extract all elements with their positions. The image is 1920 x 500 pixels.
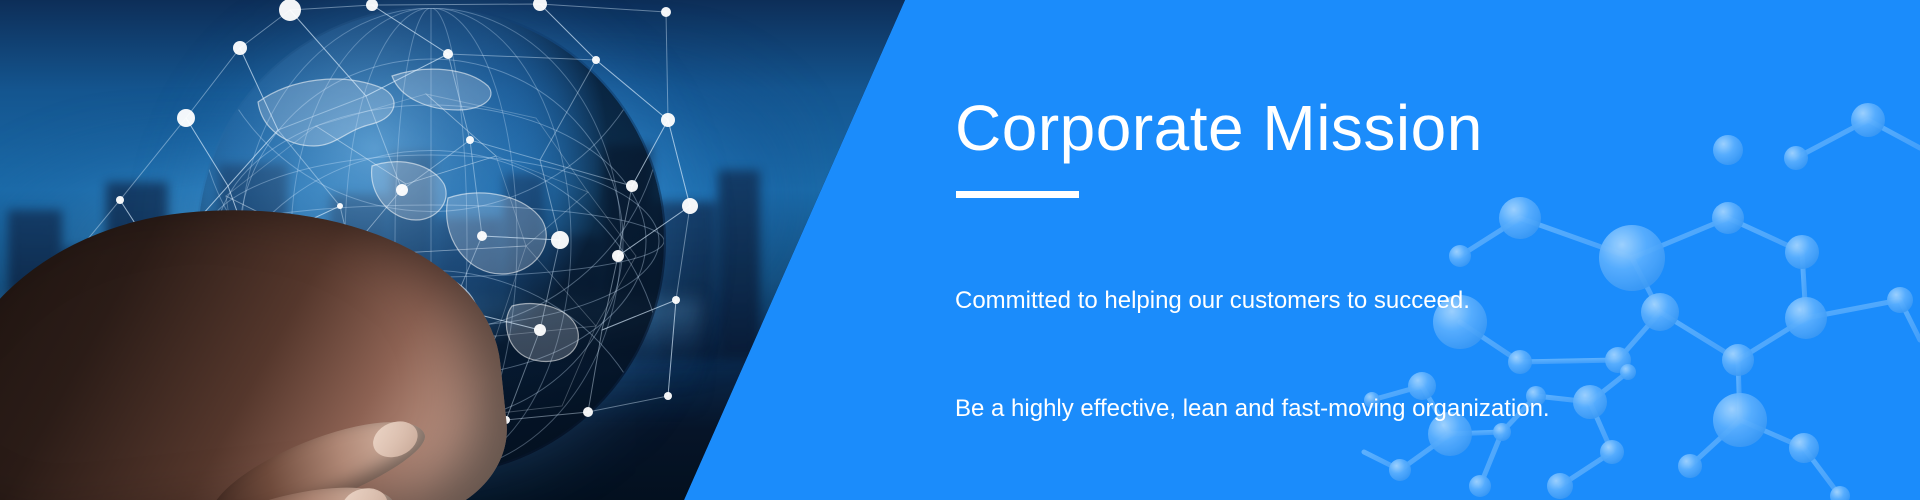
mission-statement: Committed to helping our customers to su… — [955, 211, 1571, 500]
page-title: Corporate Mission — [955, 96, 1483, 160]
finger-index — [197, 400, 433, 500]
title-underline-rule — [956, 191, 1079, 198]
hero-photo — [0, 0, 960, 500]
mission-line-1: Committed to helping our customers to su… — [955, 283, 1571, 319]
corporate-mission-banner: Corporate Mission Committed to helping o… — [0, 0, 1920, 500]
text-content: Corporate Mission Committed to helping o… — [955, 0, 1855, 500]
mission-line-2: Be a highly effective, lean and fast-mov… — [955, 391, 1571, 427]
